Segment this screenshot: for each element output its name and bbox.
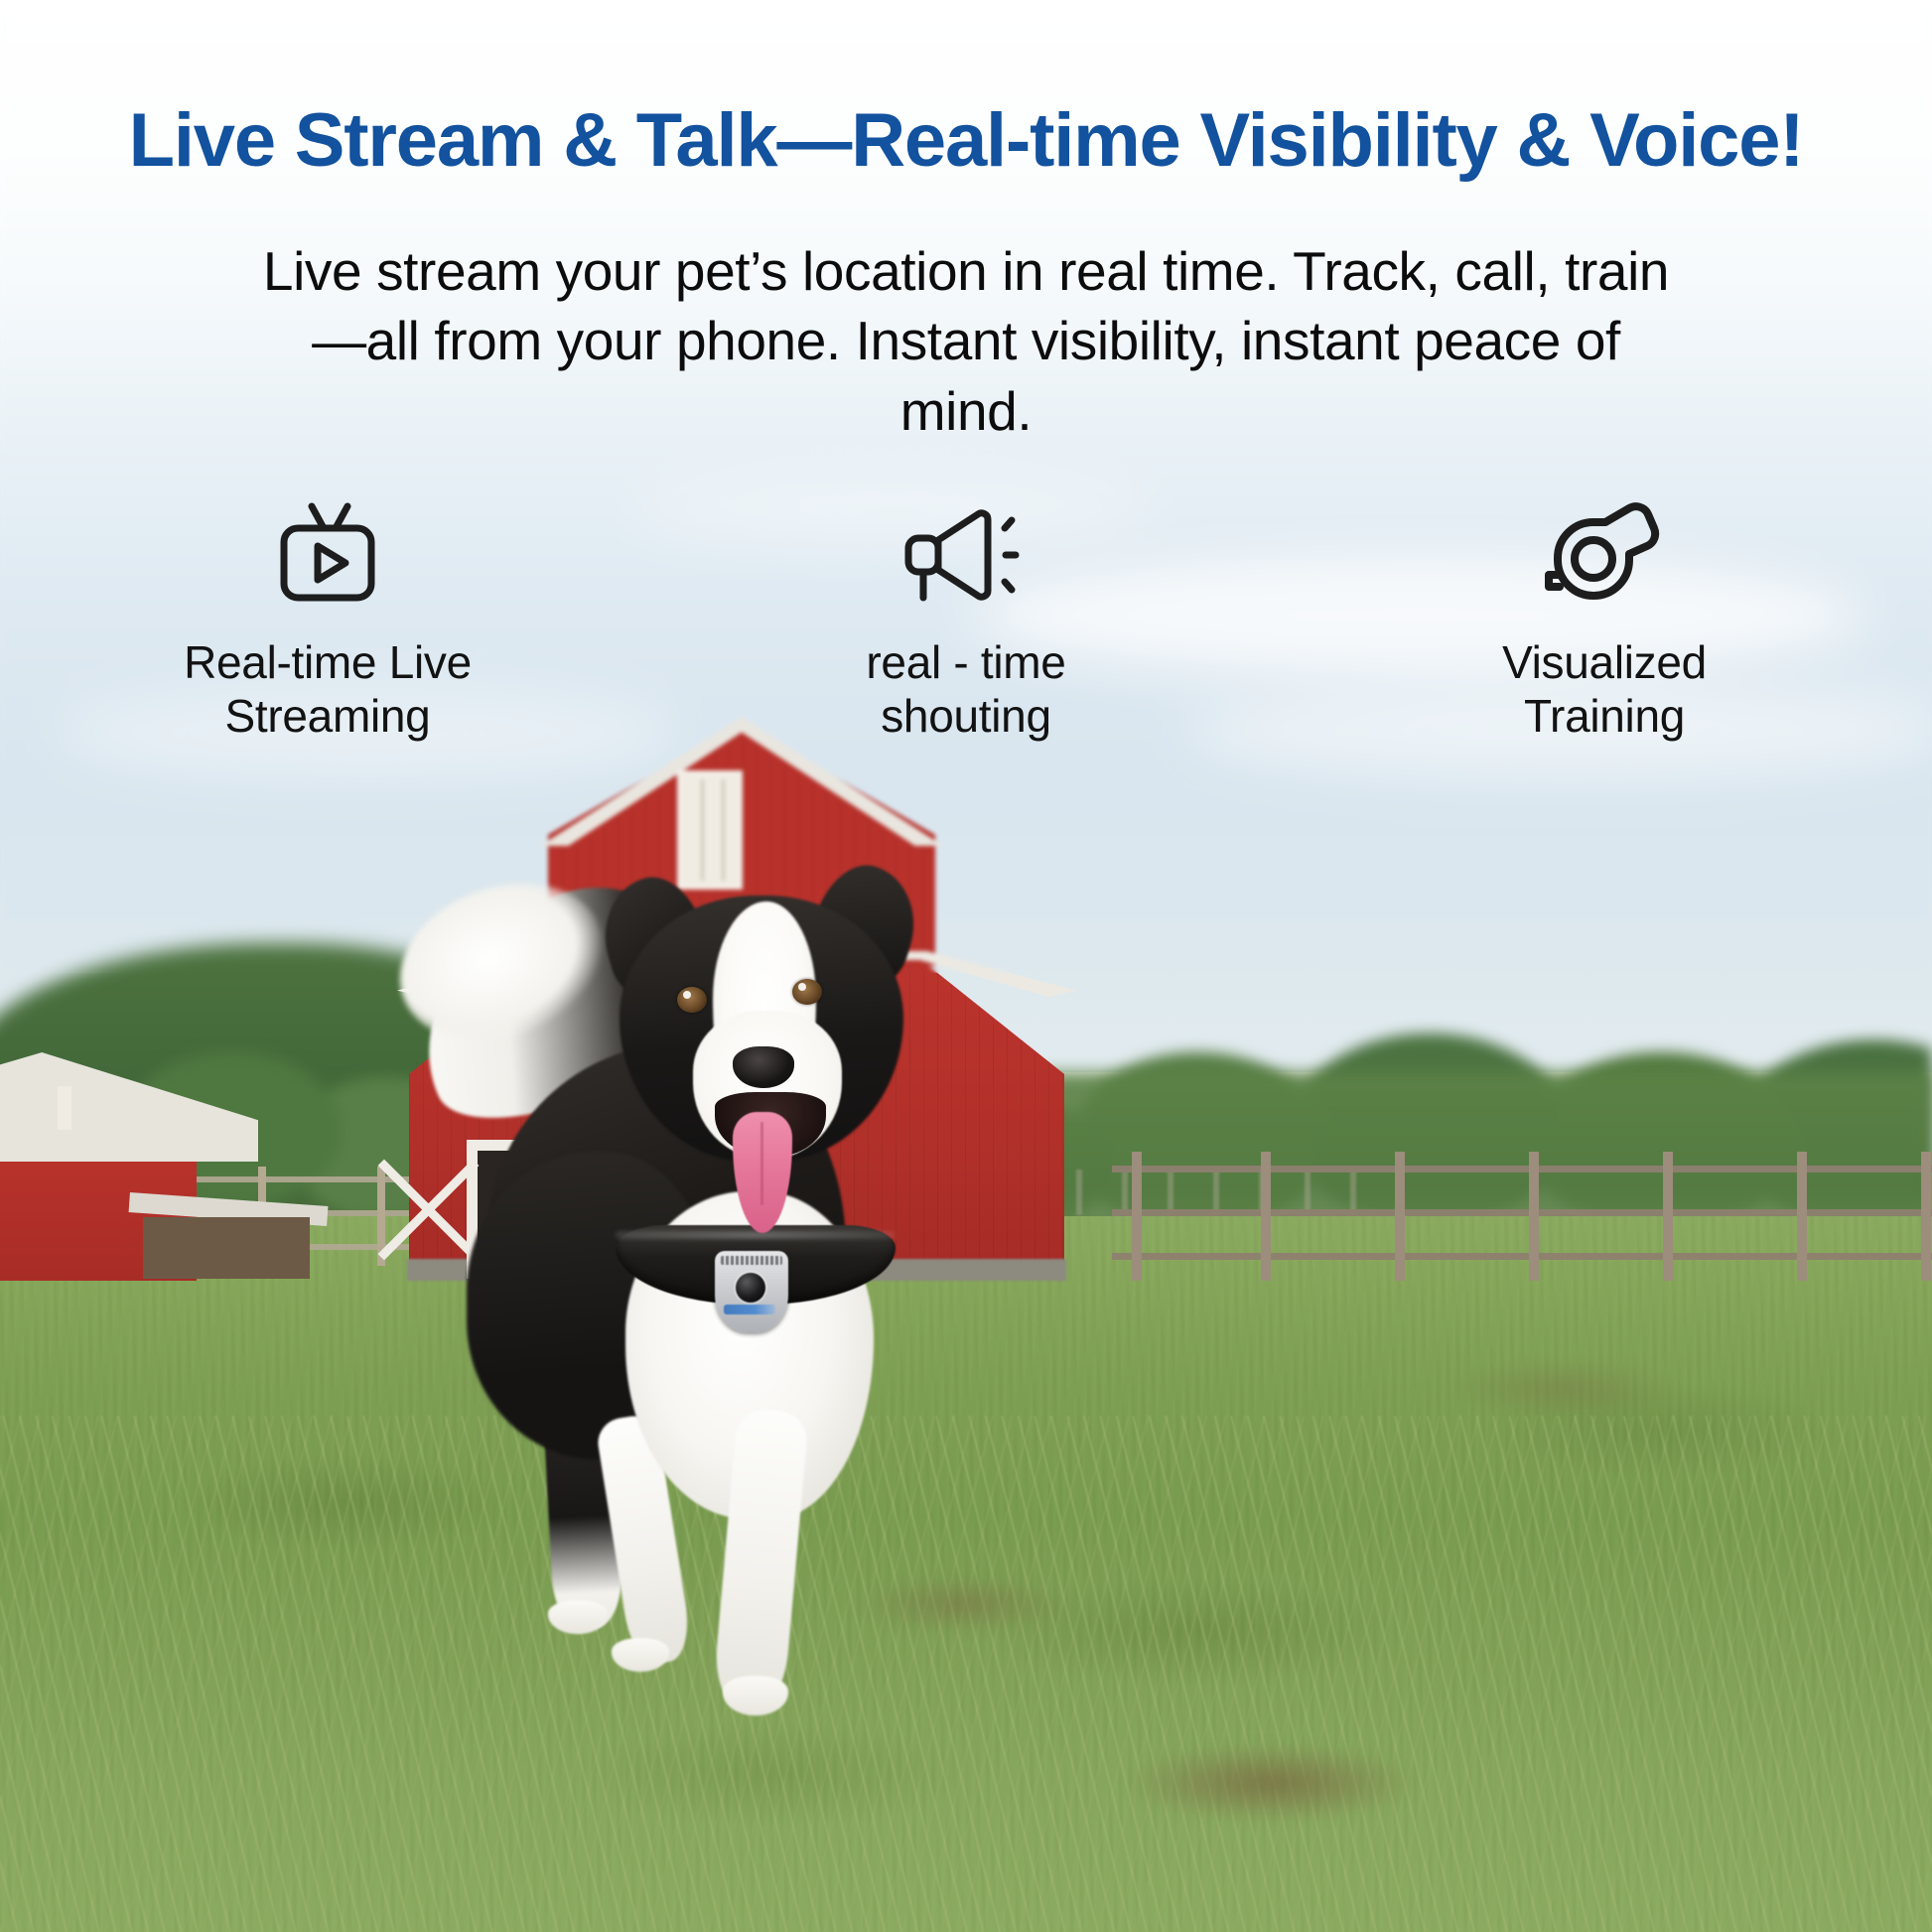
- text-overlay: Live Stream & Talk—Real-time Visibility …: [0, 0, 1932, 1932]
- feature-item-real-time-shouting: real - time shouting: [708, 494, 1224, 744]
- megaphone-icon: [902, 494, 1030, 614]
- page-subtitle: Live stream your pet’s location in real …: [261, 236, 1671, 446]
- feature-label: Real-time Live Streaming: [184, 635, 472, 744]
- product-feature-poster: Live Stream & Talk—Real-time Visibility …: [0, 0, 1932, 1932]
- page-title: Live Stream & Talk—Real-time Visibility …: [0, 103, 1932, 179]
- feature-list: Real-time Live Streaming real - time sho…: [69, 494, 1863, 744]
- feature-label: Visualized Training: [1502, 635, 1707, 744]
- feature-item-live-streaming: Real-time Live Streaming: [69, 494, 586, 744]
- feature-item-visualized-training: Visualized Training: [1346, 494, 1863, 744]
- whistle-icon: [1544, 494, 1665, 614]
- feature-label: real - time shouting: [866, 635, 1065, 744]
- live-tv-play-icon: [268, 494, 387, 614]
